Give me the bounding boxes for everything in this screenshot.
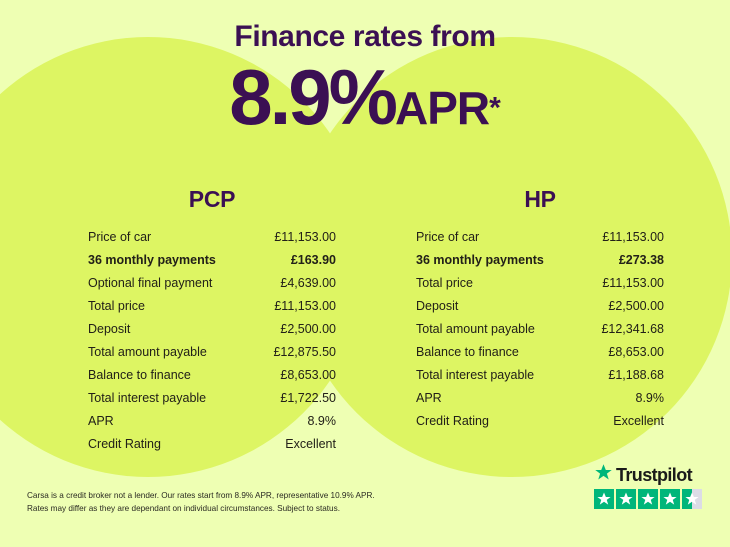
- row-value: Excellent: [285, 437, 336, 451]
- row-label: APR: [416, 391, 442, 405]
- table-row: APR 8.9%: [88, 414, 336, 437]
- finance-table-hp: HP Price of car £11,153.00 36 monthly pa…: [416, 186, 664, 437]
- row-value: £12,875.50: [273, 345, 336, 359]
- row-value: £8,653.00: [280, 368, 336, 382]
- table-row: Balance to finance £8,653.00: [416, 345, 664, 368]
- row-label: Optional final payment: [88, 276, 212, 290]
- table-row: Total amount payable £12,341.68: [416, 322, 664, 345]
- trustpilot-star-box: [660, 489, 680, 509]
- table-row: Balance to finance £8,653.00: [88, 368, 336, 391]
- trustpilot-logo: Trustpilot: [594, 464, 712, 486]
- table-row: 36 monthly payments £163.90: [88, 253, 336, 276]
- row-label: 36 monthly payments: [88, 253, 216, 267]
- row-label: Balance to finance: [88, 368, 191, 382]
- trustpilot-star-box: [594, 489, 614, 509]
- row-label: Total amount payable: [88, 345, 207, 359]
- trustpilot-rating[interactable]: Trustpilot: [594, 464, 712, 509]
- trustpilot-stars: [594, 489, 712, 509]
- row-label: Total interest payable: [416, 368, 534, 382]
- row-value: £11,153.00: [602, 230, 664, 244]
- row-value: £1,722.50: [280, 391, 336, 405]
- row-value: £12,341.68: [601, 322, 664, 336]
- row-value: £11,153.00: [274, 230, 336, 244]
- row-value: £11,153.00: [602, 276, 664, 290]
- row-value: £8,653.00: [608, 345, 664, 359]
- table-row: Total price £11,153.00: [88, 299, 336, 322]
- table-row: Credit Rating Excellent: [416, 414, 664, 437]
- table-row: Deposit £2,500.00: [416, 299, 664, 322]
- row-value: £2,500.00: [608, 299, 664, 313]
- row-label: APR: [88, 414, 114, 428]
- row-value: £4,639.00: [280, 276, 336, 290]
- row-label: Price of car: [88, 230, 151, 244]
- trustpilot-star-icon: [594, 463, 613, 487]
- column-title-hp: HP: [416, 186, 664, 213]
- row-value: £273.38: [619, 253, 664, 267]
- table-row: Total price £11,153.00: [416, 276, 664, 299]
- row-label: Deposit: [416, 299, 458, 313]
- table-row: Total amount payable £12,875.50: [88, 345, 336, 368]
- row-value: £2,500.00: [280, 322, 336, 336]
- table-row: Price of car £11,153.00: [88, 230, 336, 253]
- page-title: Finance rates from: [0, 20, 730, 54]
- row-label: Total interest payable: [88, 391, 206, 405]
- rate-value: 8.9%: [229, 53, 395, 141]
- row-label: Total amount payable: [416, 322, 535, 336]
- table-row: Deposit £2,500.00: [88, 322, 336, 345]
- table-row: Total interest payable £1,722.50: [88, 391, 336, 414]
- trustpilot-star-box: [638, 489, 658, 509]
- trustpilot-star-box: [616, 489, 636, 509]
- row-label: Deposit: [88, 322, 130, 336]
- row-value: 8.9%: [308, 414, 337, 428]
- row-label: Price of car: [416, 230, 479, 244]
- disclaimer-line-2: Rates may differ as they are dependant o…: [27, 503, 457, 516]
- table-row: Optional final payment £4,639.00: [88, 276, 336, 299]
- table-row: Total interest payable £1,188.68: [416, 368, 664, 391]
- rate-headline: 8.9%APR*: [0, 58, 730, 136]
- row-value: 8.9%: [636, 391, 665, 405]
- row-value: £1,188.68: [608, 368, 664, 382]
- row-value: Excellent: [613, 414, 664, 428]
- row-label: Total price: [416, 276, 473, 290]
- row-label: Credit Rating: [88, 437, 161, 451]
- poster-content: Finance rates from 8.9%APR* PCP Price of…: [0, 0, 730, 547]
- row-label: Total price: [88, 299, 145, 313]
- table-row: 36 monthly payments £273.38: [416, 253, 664, 276]
- finance-table-pcp: PCP Price of car £11,153.00 36 monthly p…: [88, 186, 336, 460]
- row-label: Credit Rating: [416, 414, 489, 428]
- row-value: £11,153.00: [274, 299, 336, 313]
- row-label: 36 monthly payments: [416, 253, 544, 267]
- rate-unit: APR: [395, 82, 489, 134]
- column-title-pcp: PCP: [88, 186, 336, 213]
- rate-asterisk: *: [489, 92, 501, 125]
- trustpilot-star-box-half: [682, 489, 702, 509]
- finance-rates-poster: Finance rates from 8.9%APR* PCP Price of…: [0, 0, 730, 547]
- disclaimer-text: Carsa is a credit broker not a lender. O…: [27, 490, 457, 515]
- trustpilot-wordmark: Trustpilot: [616, 465, 692, 486]
- row-value: £163.90: [291, 253, 336, 267]
- table-row: APR 8.9%: [416, 391, 664, 414]
- disclaimer-line-1: Carsa is a credit broker not a lender. O…: [27, 490, 457, 503]
- row-label: Balance to finance: [416, 345, 519, 359]
- table-row: Price of car £11,153.00: [416, 230, 664, 253]
- table-row: Credit Rating Excellent: [88, 437, 336, 460]
